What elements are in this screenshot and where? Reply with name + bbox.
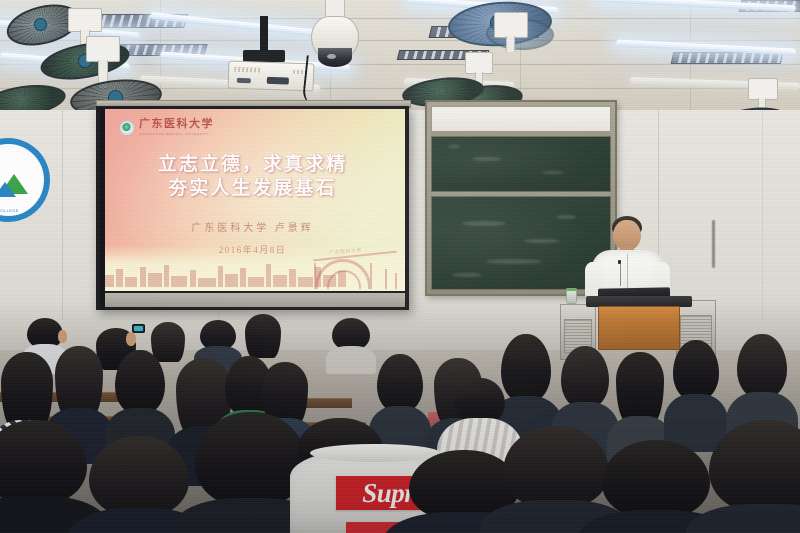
- university-name: 广东医科大学: [139, 119, 214, 130]
- slide-title-line-1: 立志立德，求真求精: [100, 153, 405, 177]
- audience-member: [198, 320, 238, 360]
- ceiling-fan: [490, 12, 540, 52]
- audience-member: [706, 420, 800, 533]
- blackboard-writing-surface-lower: [431, 196, 611, 290]
- dome-camera: [308, 0, 362, 84]
- projector: [228, 61, 315, 92]
- audience-member: [560, 346, 610, 434]
- screen-surface: 广东医科大学 广东医科大学 GUANGDONG MEDICAL UNIVERSI…: [100, 109, 405, 291]
- crest-ring-text: COLLEGE: [0, 208, 44, 213]
- audience-member: [616, 352, 664, 438]
- raised-hand: [58, 330, 67, 343]
- screen-stand-leg: [100, 108, 105, 310]
- audience-member: [672, 340, 720, 426]
- projector-mount-pole: [260, 16, 268, 54]
- blackboard-upper-panel: [431, 106, 611, 132]
- university-name-english: GUANGDONG MEDICAL UNIVERSITY: [139, 132, 214, 136]
- slide-presenter: 广东医科大学 卢景辉: [100, 219, 405, 234]
- slide-university-logo: 广东医科大学 GUANGDONG MEDICAL UNIVERSITY: [120, 119, 214, 136]
- slide-title-line-2: 夯实人生发展基石: [100, 177, 405, 201]
- presentation-slide: 广东医科大学 广东医科大学 GUANGDONG MEDICAL UNIVERSI…: [100, 109, 405, 291]
- audience-member: [736, 334, 788, 426]
- audience-member: [500, 426, 612, 533]
- projection-screen: 广东医科大学 广东医科大学 GUANGDONG MEDICAL UNIVERSI…: [96, 106, 409, 310]
- slide-date: 2016年4月8日: [100, 243, 405, 256]
- lecture-hall-photo: COLLEGE: [0, 0, 800, 533]
- college-crest-icon: COLLEGE: [0, 138, 50, 222]
- smartphone: [132, 324, 145, 333]
- audience-member: [330, 318, 372, 366]
- slide-title: 立志立德，求真求精 夯实人生发展基石: [100, 153, 405, 202]
- audience: Supre: [0, 300, 800, 533]
- ceiling: [0, 0, 800, 112]
- projector-bracket: [243, 50, 285, 62]
- audience-member: [114, 350, 166, 438]
- blackboard-writing-surface-upper: [431, 136, 611, 192]
- hand-holding-phone: [126, 332, 136, 346]
- audience-member: [0, 420, 90, 533]
- university-logo-mark-icon: [120, 121, 134, 135]
